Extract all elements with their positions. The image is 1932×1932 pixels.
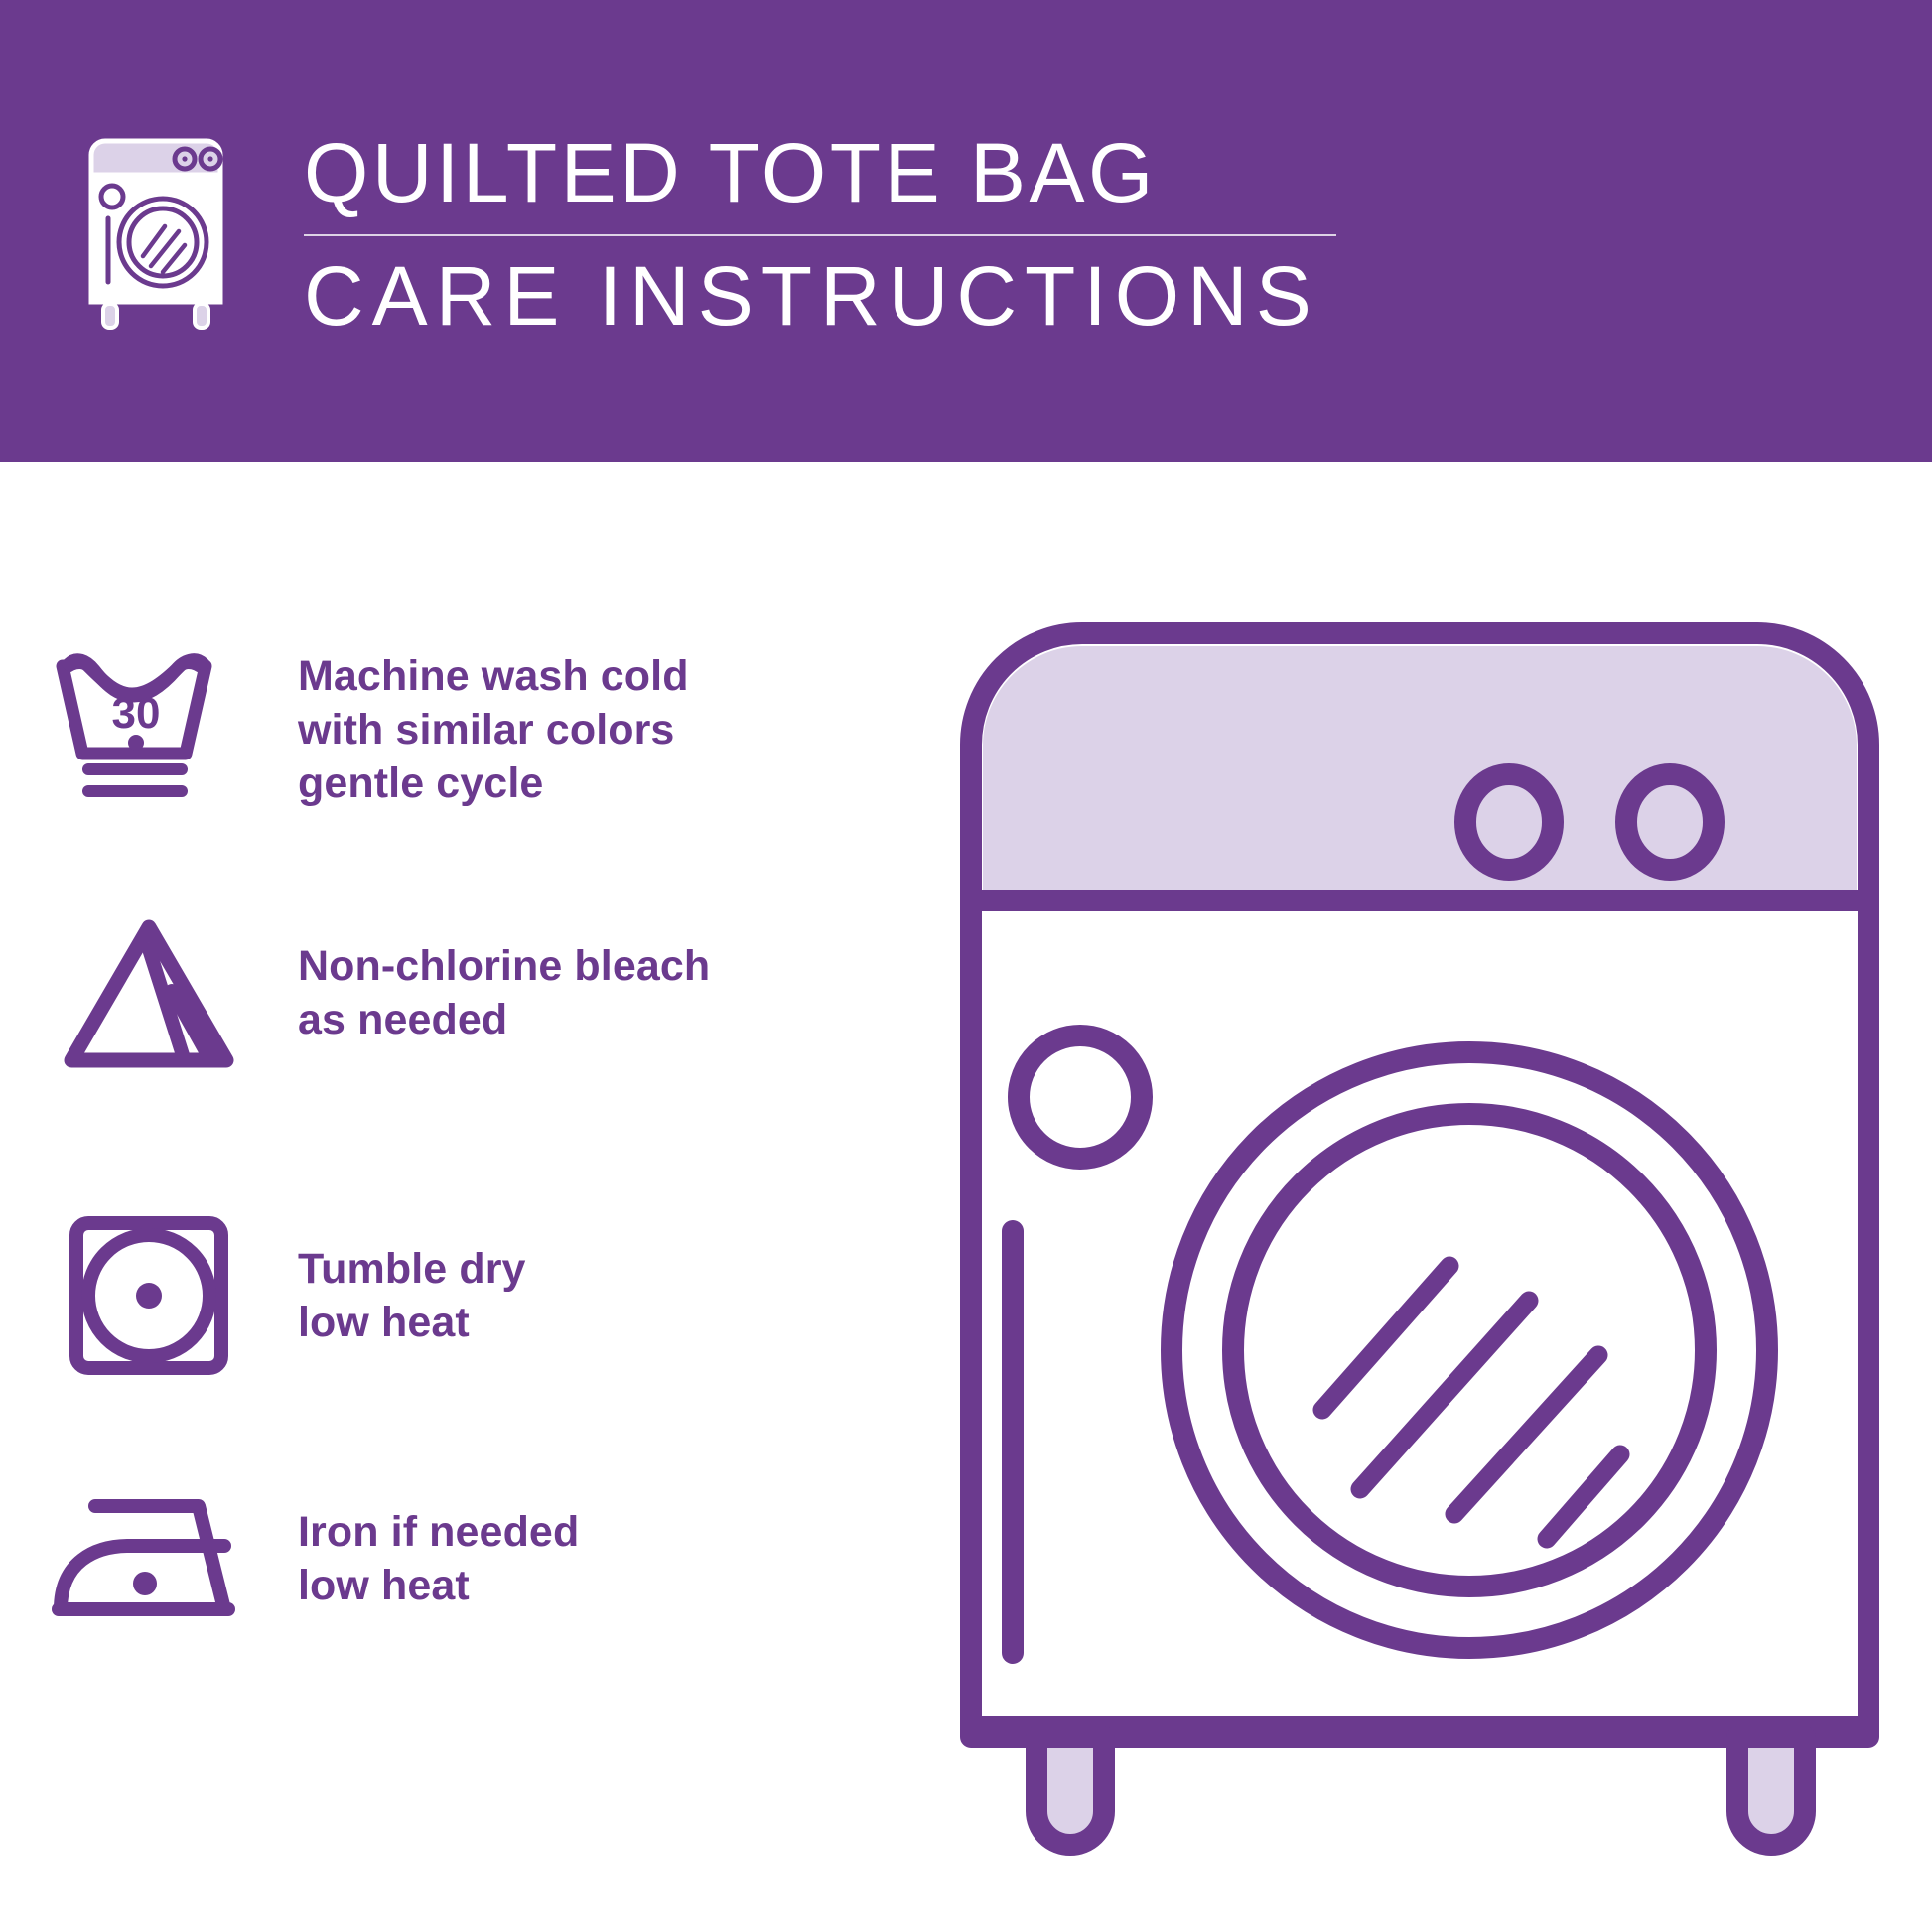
care-label-line: low heat — [298, 1562, 470, 1609]
machine-wash-30-gentle-icon: 30 — [55, 650, 243, 809]
care-label-line: gentle cycle — [298, 759, 543, 807]
iron-low-heat-icon — [50, 1484, 248, 1633]
tumble-dry-low-heat-icon — [65, 1211, 233, 1380]
care-label-line: Non-chlorine bleach — [298, 942, 710, 990]
page-title: QUILTED TOTE BAG — [304, 127, 1336, 218]
control-panel-lower — [983, 784, 1857, 898]
care-label-line: low heat — [298, 1299, 470, 1346]
knob-right — [1626, 774, 1714, 870]
care-item-bleach: Non-chlorine bleachas needed — [0, 898, 953, 1087]
care-item-label: Non-chlorine bleachas needed — [298, 939, 953, 1046]
care-label-line: Iron if needed — [298, 1508, 579, 1556]
wash-temperature-value: 30 — [112, 689, 161, 738]
washing-machine-graphic — [953, 616, 1886, 1857]
washing-machine-icon — [77, 133, 244, 332]
knob-left — [1465, 774, 1553, 870]
care-item-tumble-dry: Tumble drylow heat — [0, 1201, 953, 1390]
title-divider — [304, 234, 1336, 236]
care-item-iron: Iron if neededlow heat — [0, 1464, 953, 1653]
care-item-label: Machine wash coldwith similar colorsgent… — [298, 649, 953, 810]
leg-left — [1036, 1737, 1104, 1845]
care-instructions-list: 30 Machine wash coldwith similar colorsg… — [0, 462, 953, 1932]
care-item-machine-wash: 30 Machine wash coldwith similar colorsg… — [0, 635, 953, 824]
leg-right — [1737, 1737, 1805, 1845]
care-icon-slot — [0, 1464, 298, 1653]
care-item-label: Tumble drylow heat — [298, 1242, 953, 1349]
header-titles: QUILTED TOTE BAG CARE INSTRUCTIONS — [304, 127, 1336, 342]
header-content: QUILTED TOTE BAG CARE INSTRUCTIONS — [77, 127, 1336, 342]
care-icon-slot — [0, 898, 298, 1087]
front-load-washing-machine-illustration — [953, 616, 1886, 1857]
care-label-line: as needed — [298, 996, 507, 1043]
care-label-line: Machine wash cold — [298, 652, 689, 700]
care-icon-slot: 30 — [0, 635, 298, 824]
care-label-line: Tumble dry — [298, 1245, 526, 1293]
non-chlorine-bleach-triangle-icon — [61, 913, 237, 1072]
header-banner: QUILTED TOTE BAG CARE INSTRUCTIONS — [0, 0, 1932, 462]
care-item-label: Iron if neededlow heat — [298, 1505, 953, 1612]
control-panel — [983, 646, 1857, 789]
care-label-line: with similar colors — [298, 706, 674, 754]
care-icon-slot — [0, 1201, 298, 1390]
page-subtitle: CARE INSTRUCTIONS — [304, 250, 1336, 342]
